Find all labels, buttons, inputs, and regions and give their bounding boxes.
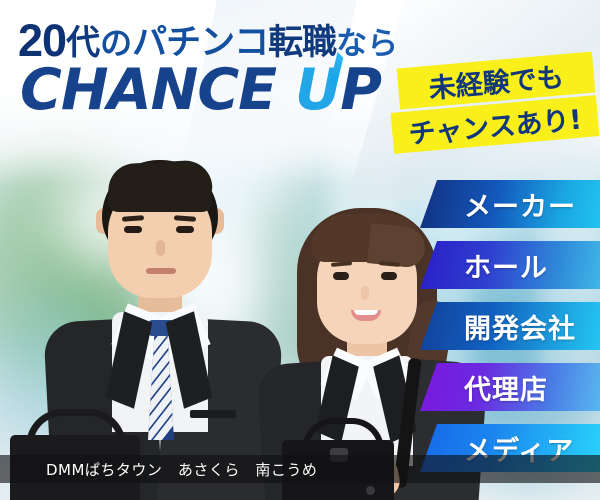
promo-banner: 20代のパチンコ転職なら CHANCE UP 未経験でも チャンスあり! メーカ… <box>0 0 600 500</box>
category-button-development[interactable]: 開発会社 <box>420 302 600 350</box>
category-button-agency[interactable]: 代理店 <box>420 363 600 411</box>
category-button-maker[interactable]: メーカー <box>420 180 600 228</box>
category-label: 開発会社 <box>464 307 576 346</box>
credit-text: DMMぱちタウン あさくら 南こうめ <box>0 459 317 480</box>
category-label: ホール <box>464 246 548 285</box>
category-label: メーカー <box>464 185 576 224</box>
category-button-list: メーカー ホール 開発会社 代理店 メディア <box>0 0 600 500</box>
credit-bar: DMMぱちタウン あさくら 南こうめ <box>0 455 600 483</box>
category-label: 代理店 <box>464 368 548 407</box>
category-button-hall[interactable]: ホール <box>420 241 600 289</box>
